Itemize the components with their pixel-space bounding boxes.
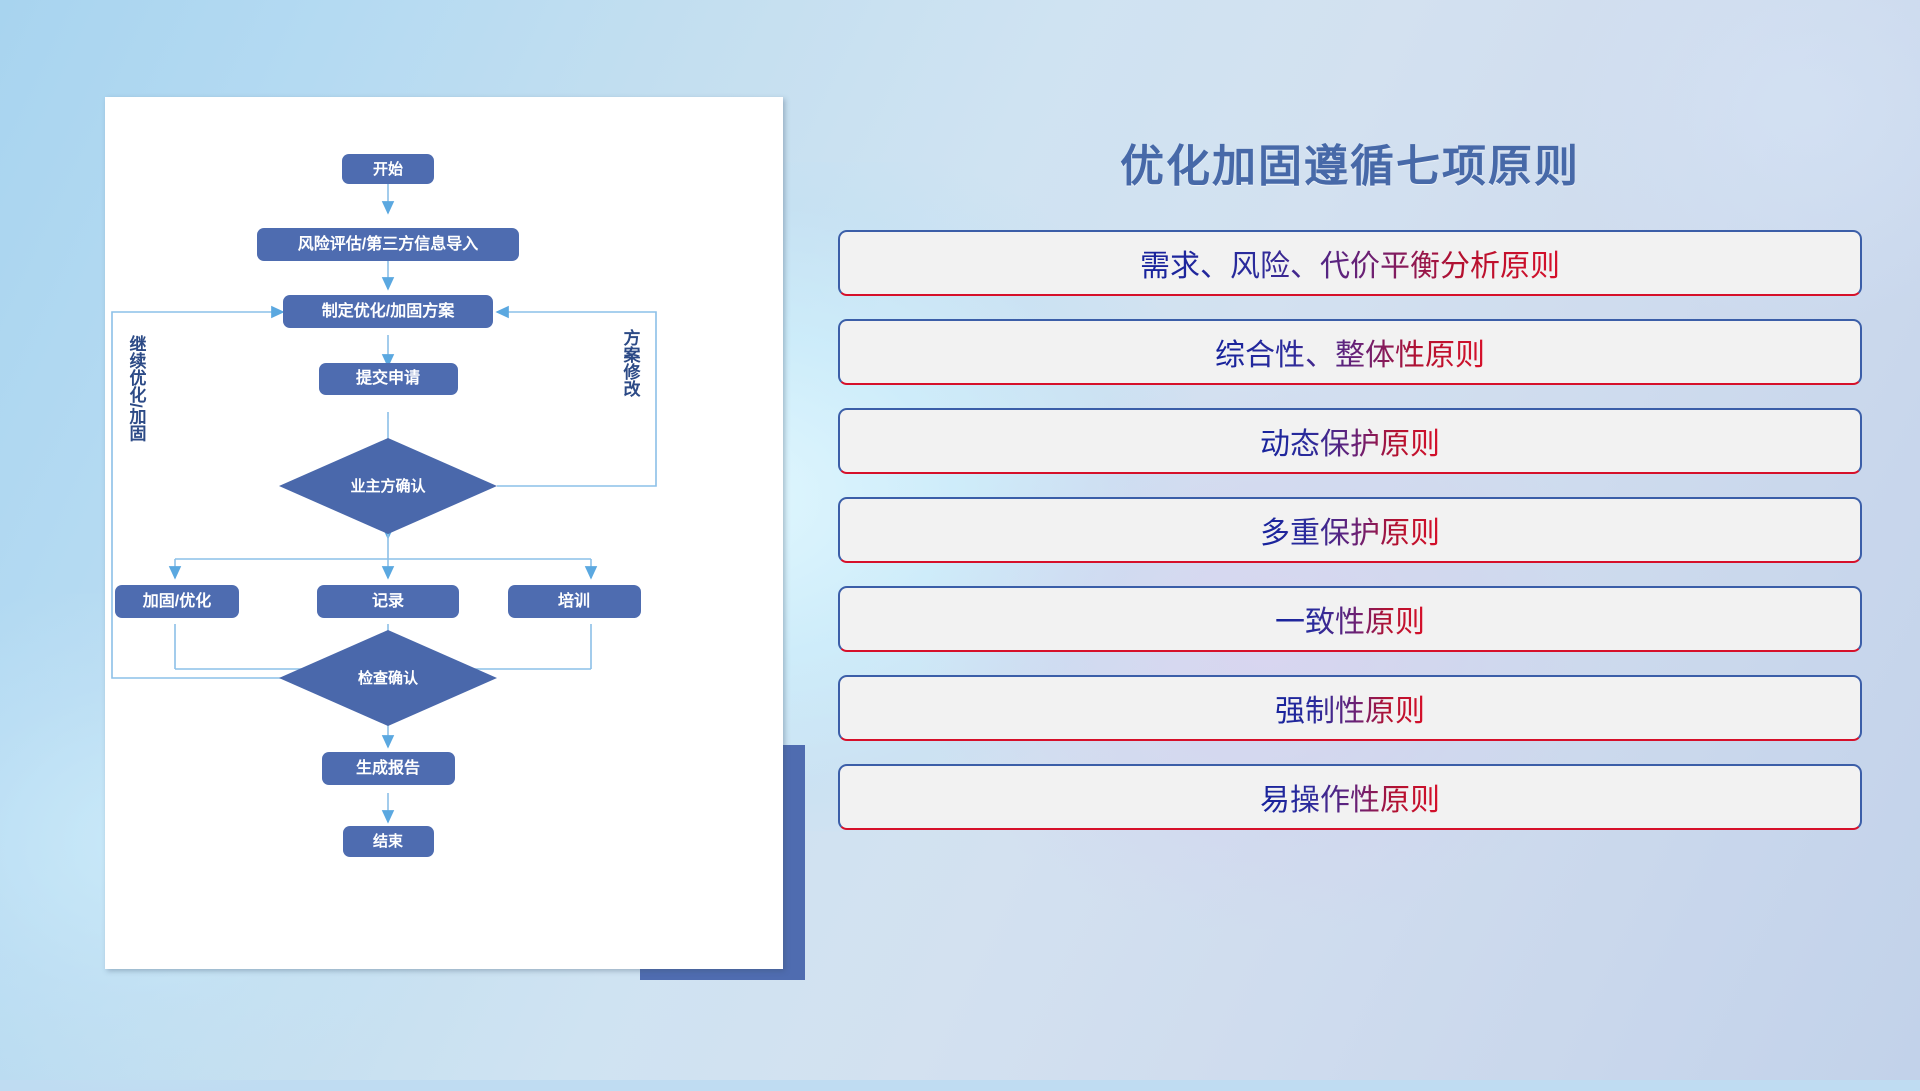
node-plan[interactable]: 制定优化/加固方案 [283, 295, 493, 328]
node-risk-assessment[interactable]: 风险评估/第三方信息导入 [257, 228, 519, 261]
node-training[interactable]: 培训 [508, 585, 641, 618]
principle-label: 强制性原则 [1275, 686, 1425, 730]
principle-item-1[interactable]: 需求、风险、代价平衡分析原则 [838, 230, 1862, 296]
node-record-label: 记录 [372, 592, 404, 610]
principle-item-5[interactable]: 一致性原则 [838, 586, 1862, 652]
node-submit[interactable]: 提交申请 [319, 363, 458, 395]
edge-label-plan-revision: 方案修改 [621, 328, 642, 398]
principle-label: 需求、风险、代价平衡分析原则 [1140, 241, 1560, 285]
node-check-confirm-label: 检查确认 [358, 669, 419, 687]
node-end[interactable]: 结束 [343, 826, 434, 857]
node-report-label: 生成报告 [356, 758, 420, 777]
principle-item-3[interactable]: 动态保护原则 [838, 408, 1862, 474]
node-risk-assessment-label: 风险评估/第三方信息导入 [298, 234, 478, 253]
principle-label: 动态保护原则 [1260, 419, 1440, 463]
edge-label-continue-optimize: 继续优化/加固 [127, 334, 148, 443]
principle-label: 综合性、整体性原则 [1215, 330, 1485, 374]
node-end-label: 结束 [373, 832, 404, 850]
principles-panel: 优化加固遵循七项原则 需求、风险、代价平衡分析原则 综合性、整体性原则 动态保护… [830, 60, 1870, 1020]
principle-label: 一致性原则 [1275, 597, 1425, 641]
flowchart-card: 开始 风险评估/第三方信息导入 制定优化/加固方案 提交申请 业主方确认 加固/ [105, 97, 783, 969]
principle-item-2[interactable]: 综合性、整体性原则 [838, 319, 1862, 385]
node-start[interactable]: 开始 [342, 154, 434, 184]
node-check-confirm[interactable]: 检查确认 [279, 630, 497, 726]
principle-item-6[interactable]: 强制性原则 [838, 675, 1862, 741]
principle-label: 多重保护原则 [1260, 508, 1440, 552]
node-owner-confirm-label: 业主方确认 [350, 477, 426, 495]
node-plan-label: 制定优化/加固方案 [322, 301, 455, 320]
flowchart-diagram: 开始 风险评估/第三方信息导入 制定优化/加固方案 提交申请 业主方确认 加固/ [105, 97, 783, 969]
node-reinforce[interactable]: 加固/优化 [115, 585, 239, 618]
page-title: 优化加固遵循七项原则 [830, 130, 1870, 194]
node-training-label: 培训 [558, 591, 590, 610]
node-start-label: 开始 [373, 160, 403, 178]
principle-label: 易操作性原则 [1260, 775, 1440, 819]
flow-nodes: 开始 风险评估/第三方信息导入 制定优化/加固方案 提交申请 业主方确认 加固/ [115, 154, 641, 857]
node-record[interactable]: 记录 [317, 585, 459, 618]
principles-list: 需求、风险、代价平衡分析原则 综合性、整体性原则 动态保护原则 多重保护原则 一… [838, 230, 1862, 853]
node-report[interactable]: 生成报告 [322, 752, 455, 785]
node-reinforce-label: 加固/优化 [142, 591, 211, 610]
node-submit-label: 提交申请 [356, 368, 420, 387]
node-owner-confirm[interactable]: 业主方确认 [279, 438, 497, 534]
principle-item-7[interactable]: 易操作性原则 [838, 764, 1862, 830]
principle-item-4[interactable]: 多重保护原则 [838, 497, 1862, 563]
